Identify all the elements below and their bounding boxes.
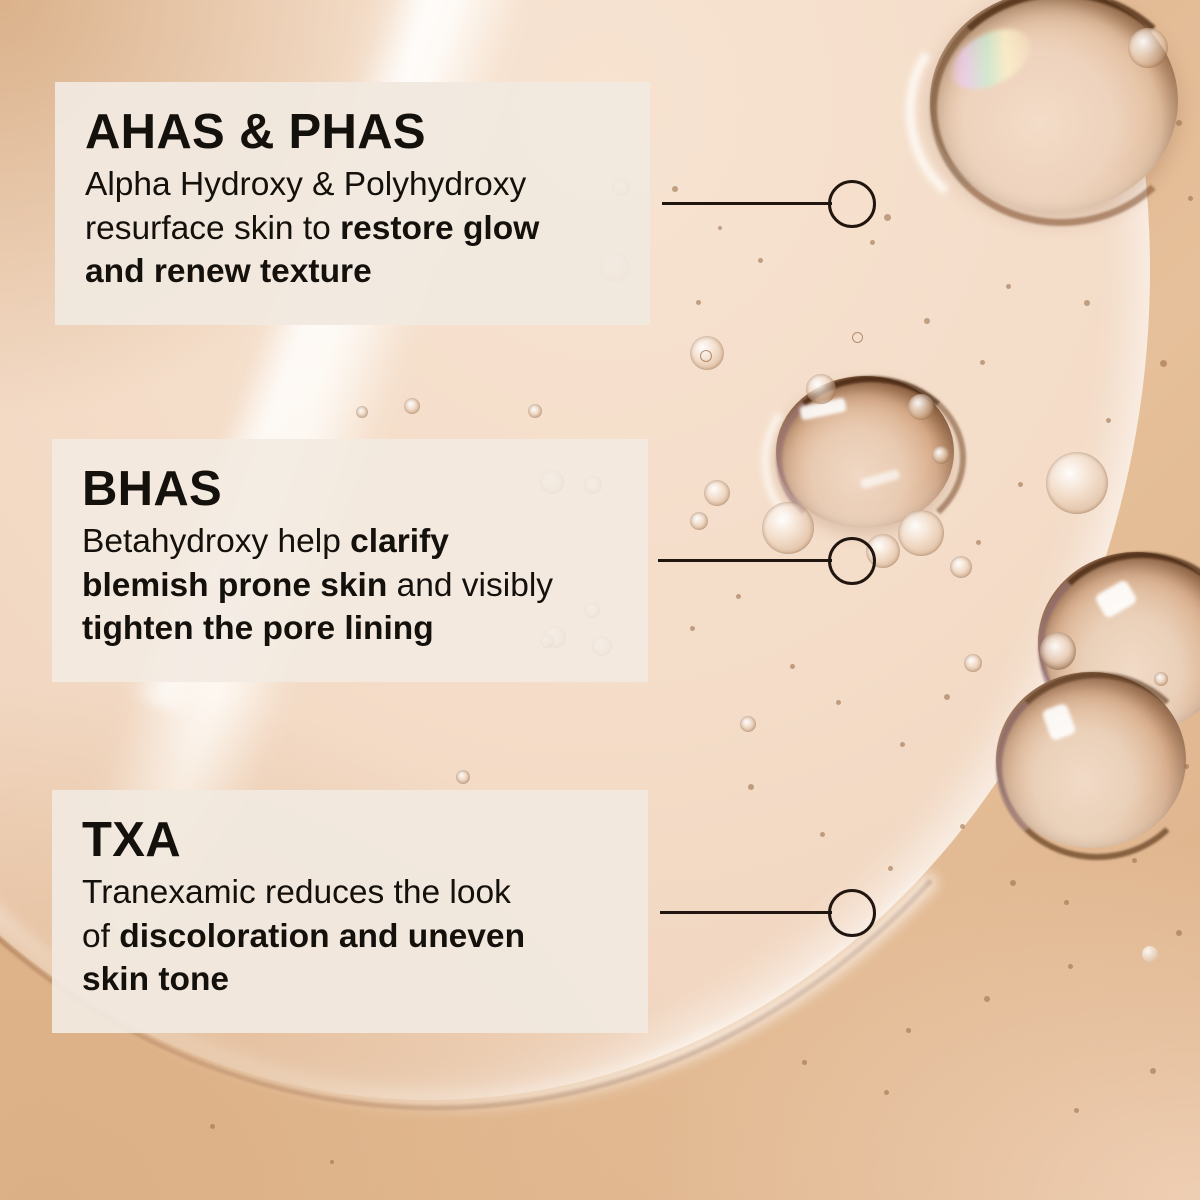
- bubble-satellite: [806, 374, 836, 404]
- speck: [900, 742, 905, 747]
- speck: [820, 832, 825, 837]
- bubble-satellite: [456, 770, 470, 784]
- bubble-satellite: [898, 510, 944, 556]
- infographic-canvas: AHAS & PHAS Alpha Hydroxy & Polyhydroxyr…: [0, 0, 1200, 1200]
- info-card-body-line: and renew texture: [85, 250, 620, 294]
- speck: [748, 784, 754, 790]
- info-card-title: BHAS: [82, 465, 618, 514]
- info-card-body-line: of discoloration and uneven: [82, 915, 618, 959]
- speck: [1150, 1068, 1156, 1074]
- speck: [1176, 120, 1182, 126]
- speck: [330, 1160, 334, 1164]
- speck: [696, 300, 701, 305]
- bubble-satellite: [1154, 672, 1168, 686]
- info-card-title: AHAS & PHAS: [85, 108, 620, 157]
- info-card-body: Betahydroxy help clarifyblemish prone sk…: [82, 520, 618, 651]
- speck: [1106, 418, 1111, 423]
- speck: [690, 626, 695, 631]
- callout-circle-bhas: [828, 537, 876, 585]
- bubble-satellite: [528, 404, 542, 418]
- info-card-bhas: BHAS Betahydroxy help clarifyblemish pro…: [52, 439, 648, 682]
- speck: [672, 186, 678, 192]
- bubble-satellite: [1046, 452, 1108, 514]
- speck: [758, 258, 763, 263]
- speck: [1068, 964, 1073, 969]
- bubble-satellite: [356, 406, 368, 418]
- bubble-satellite: [950, 556, 972, 578]
- speck: [700, 350, 712, 362]
- info-card-body-line: skin tone: [82, 958, 618, 1002]
- callout-line-bhas: [658, 559, 832, 562]
- speck: [836, 700, 841, 705]
- droplet-lower-right-lower-rim: [996, 672, 1198, 860]
- speck: [802, 1060, 807, 1065]
- callout-circle-txa: [828, 889, 876, 937]
- speck: [1006, 284, 1011, 289]
- info-card-title: TXA: [82, 816, 618, 865]
- speck: [1188, 196, 1193, 201]
- info-card-body-line: Alpha Hydroxy & Polyhydroxy: [85, 163, 620, 207]
- speck: [980, 360, 985, 365]
- callout-circle-ahas-phas: [828, 180, 876, 228]
- speck: [884, 214, 891, 221]
- speck: [790, 664, 795, 669]
- bubble-satellite: [908, 394, 934, 420]
- speck: [1064, 900, 1069, 905]
- bubble-satellite: [1128, 28, 1168, 68]
- callout-line-ahas-phas: [662, 202, 832, 205]
- speck: [1160, 360, 1167, 367]
- speck: [1018, 482, 1023, 487]
- speck: [1084, 300, 1090, 306]
- speck: [1074, 1108, 1079, 1113]
- bubble-satellite: [762, 502, 814, 554]
- info-card-body: Tranexamic reduces the lookof discolorat…: [82, 871, 618, 1002]
- speck: [1142, 946, 1158, 962]
- bubble-satellite: [704, 480, 730, 506]
- speck: [870, 240, 875, 245]
- bubble-satellite: [740, 716, 756, 732]
- speck: [736, 594, 741, 599]
- info-card-body-line: resurface skin to restore glow: [85, 207, 620, 251]
- speck: [852, 332, 863, 343]
- speck: [960, 824, 965, 829]
- bubble-satellite: [690, 512, 708, 530]
- bubble-satellite: [932, 446, 950, 464]
- speck: [888, 866, 893, 871]
- info-card-body-line: Betahydroxy help clarify: [82, 520, 618, 564]
- info-card-txa: TXA Tranexamic reduces the lookof discol…: [52, 790, 648, 1033]
- backdrop-shade-bottom-right: [640, 840, 1200, 1200]
- info-card-body-line: tighten the pore lining: [82, 607, 618, 651]
- speck: [884, 1090, 889, 1095]
- speck: [976, 540, 981, 545]
- speck: [906, 1028, 911, 1033]
- bubble-satellite: [404, 398, 420, 414]
- speck: [944, 694, 950, 700]
- speck: [924, 318, 930, 324]
- speck: [1184, 764, 1189, 769]
- info-card-body-line: Tranexamic reduces the look: [82, 871, 618, 915]
- speck: [1132, 858, 1137, 863]
- droplet-merge-pinch-bubble: [1040, 632, 1076, 670]
- bubble-satellite: [964, 654, 982, 672]
- speck: [1176, 930, 1182, 936]
- speck: [984, 996, 990, 1002]
- info-card-body-line: blemish prone skin and visibly: [82, 564, 618, 608]
- speck: [1010, 880, 1016, 886]
- speck: [718, 226, 722, 230]
- callout-line-txa: [660, 911, 832, 914]
- info-card-body: Alpha Hydroxy & Polyhydroxyresurface ski…: [85, 163, 620, 294]
- speck: [210, 1124, 215, 1129]
- info-card-ahas-phas: AHAS & PHAS Alpha Hydroxy & Polyhydroxyr…: [55, 82, 650, 325]
